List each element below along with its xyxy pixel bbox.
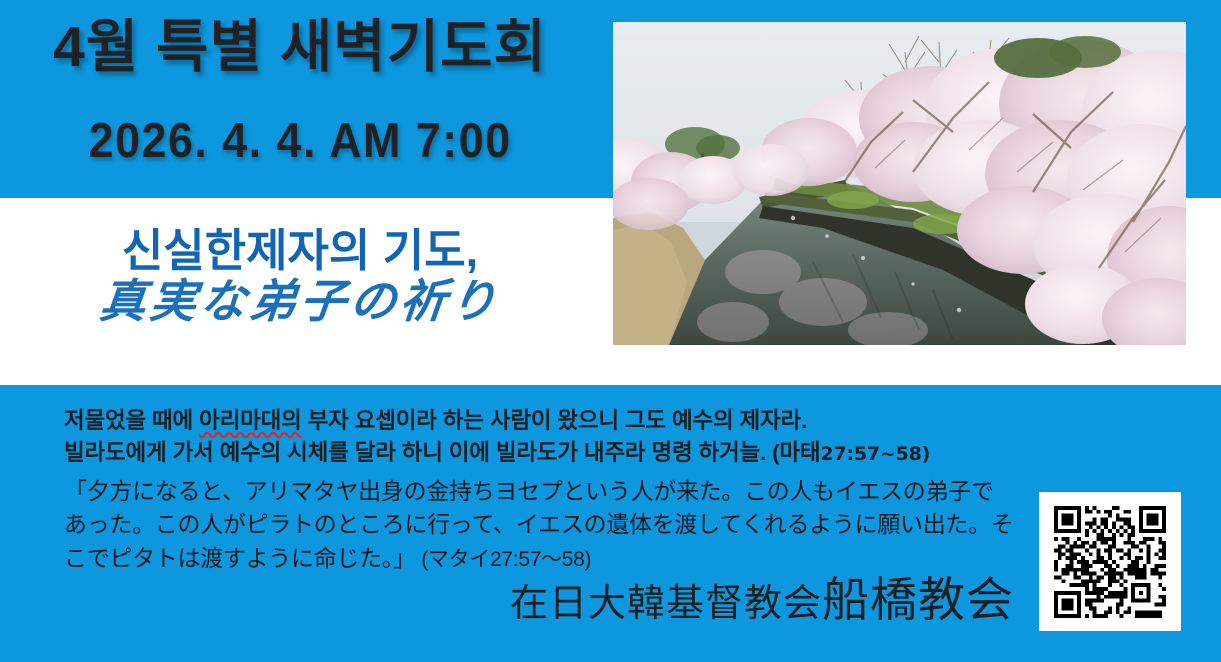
header-block: 4월 특별 새벽기도회 2026. 4. 4. AM 7:00 — [0, 0, 613, 198]
church-name-branch: 船橋教会 — [822, 573, 1014, 626]
verse-korean-line-1: 저물었을 때에 아리마대의 부자 요셉이라 하는 사람이 왔으니 그도 예수의 … — [64, 405, 1014, 437]
verse-ko-misspelled-word: 아리마대의 — [199, 408, 302, 433]
event-title: 4월 특별 새벽기도회 — [0, 19, 600, 76]
verse-ko-part-a: 저물었을 때에 — [64, 408, 199, 433]
qr-code[interactable] — [1039, 492, 1181, 631]
verse-korean-line-2: 빌라도에게 가서 예수의 시체를 달라 하니 이에 빌라도가 내주라 명령 하거… — [64, 437, 1014, 469]
sermon-title-japanese: 真実な弟子の祈り — [0, 278, 602, 324]
verse-japanese: 「夕方になると、アリマタヤ出身の金持ちヨセプという人が来た。この人もイエスの弟子… — [64, 475, 1014, 576]
scripture-block: 저물었을 때에 아리마대의 부자 요셉이라 하는 사람이 왔으니 그도 예수의 … — [64, 405, 1014, 576]
church-name: 在日大韓基督教会船橋教会 — [0, 576, 1014, 623]
event-datetime: 2026. 4. 4. AM 7:00 — [24, 117, 576, 166]
verse-ko-part-b: 부자 요셉이라 하는 사람이 왔으니 그도 예수의 제자라. — [302, 408, 807, 433]
church-name-denomination: 在日大韓基督教会 — [510, 583, 822, 625]
sermon-title-korean: 신실한제자의 기도, — [0, 228, 600, 273]
verse-ko-line2-text: 빌라도에게 가서 예수의 시체를 달라 하니 이에 빌라도가 내주라 명령 하거… — [64, 440, 820, 465]
poster-root: 4월 특별 새벽기도회 2026. 4. 4. AM 7:00 신실한제자의 기… — [0, 0, 1221, 662]
verse-japanese-reference: (マタイ27:57〜58) — [416, 548, 592, 571]
sermon-title-block: 신실한제자의 기도, 真実な弟子の祈り — [0, 198, 613, 385]
qr-code-image — [1054, 506, 1166, 618]
photo-illustration — [613, 22, 1186, 345]
verse-korean-reference: 27:57~58) — [820, 443, 930, 465]
cherry-blossom-photo — [613, 22, 1186, 345]
